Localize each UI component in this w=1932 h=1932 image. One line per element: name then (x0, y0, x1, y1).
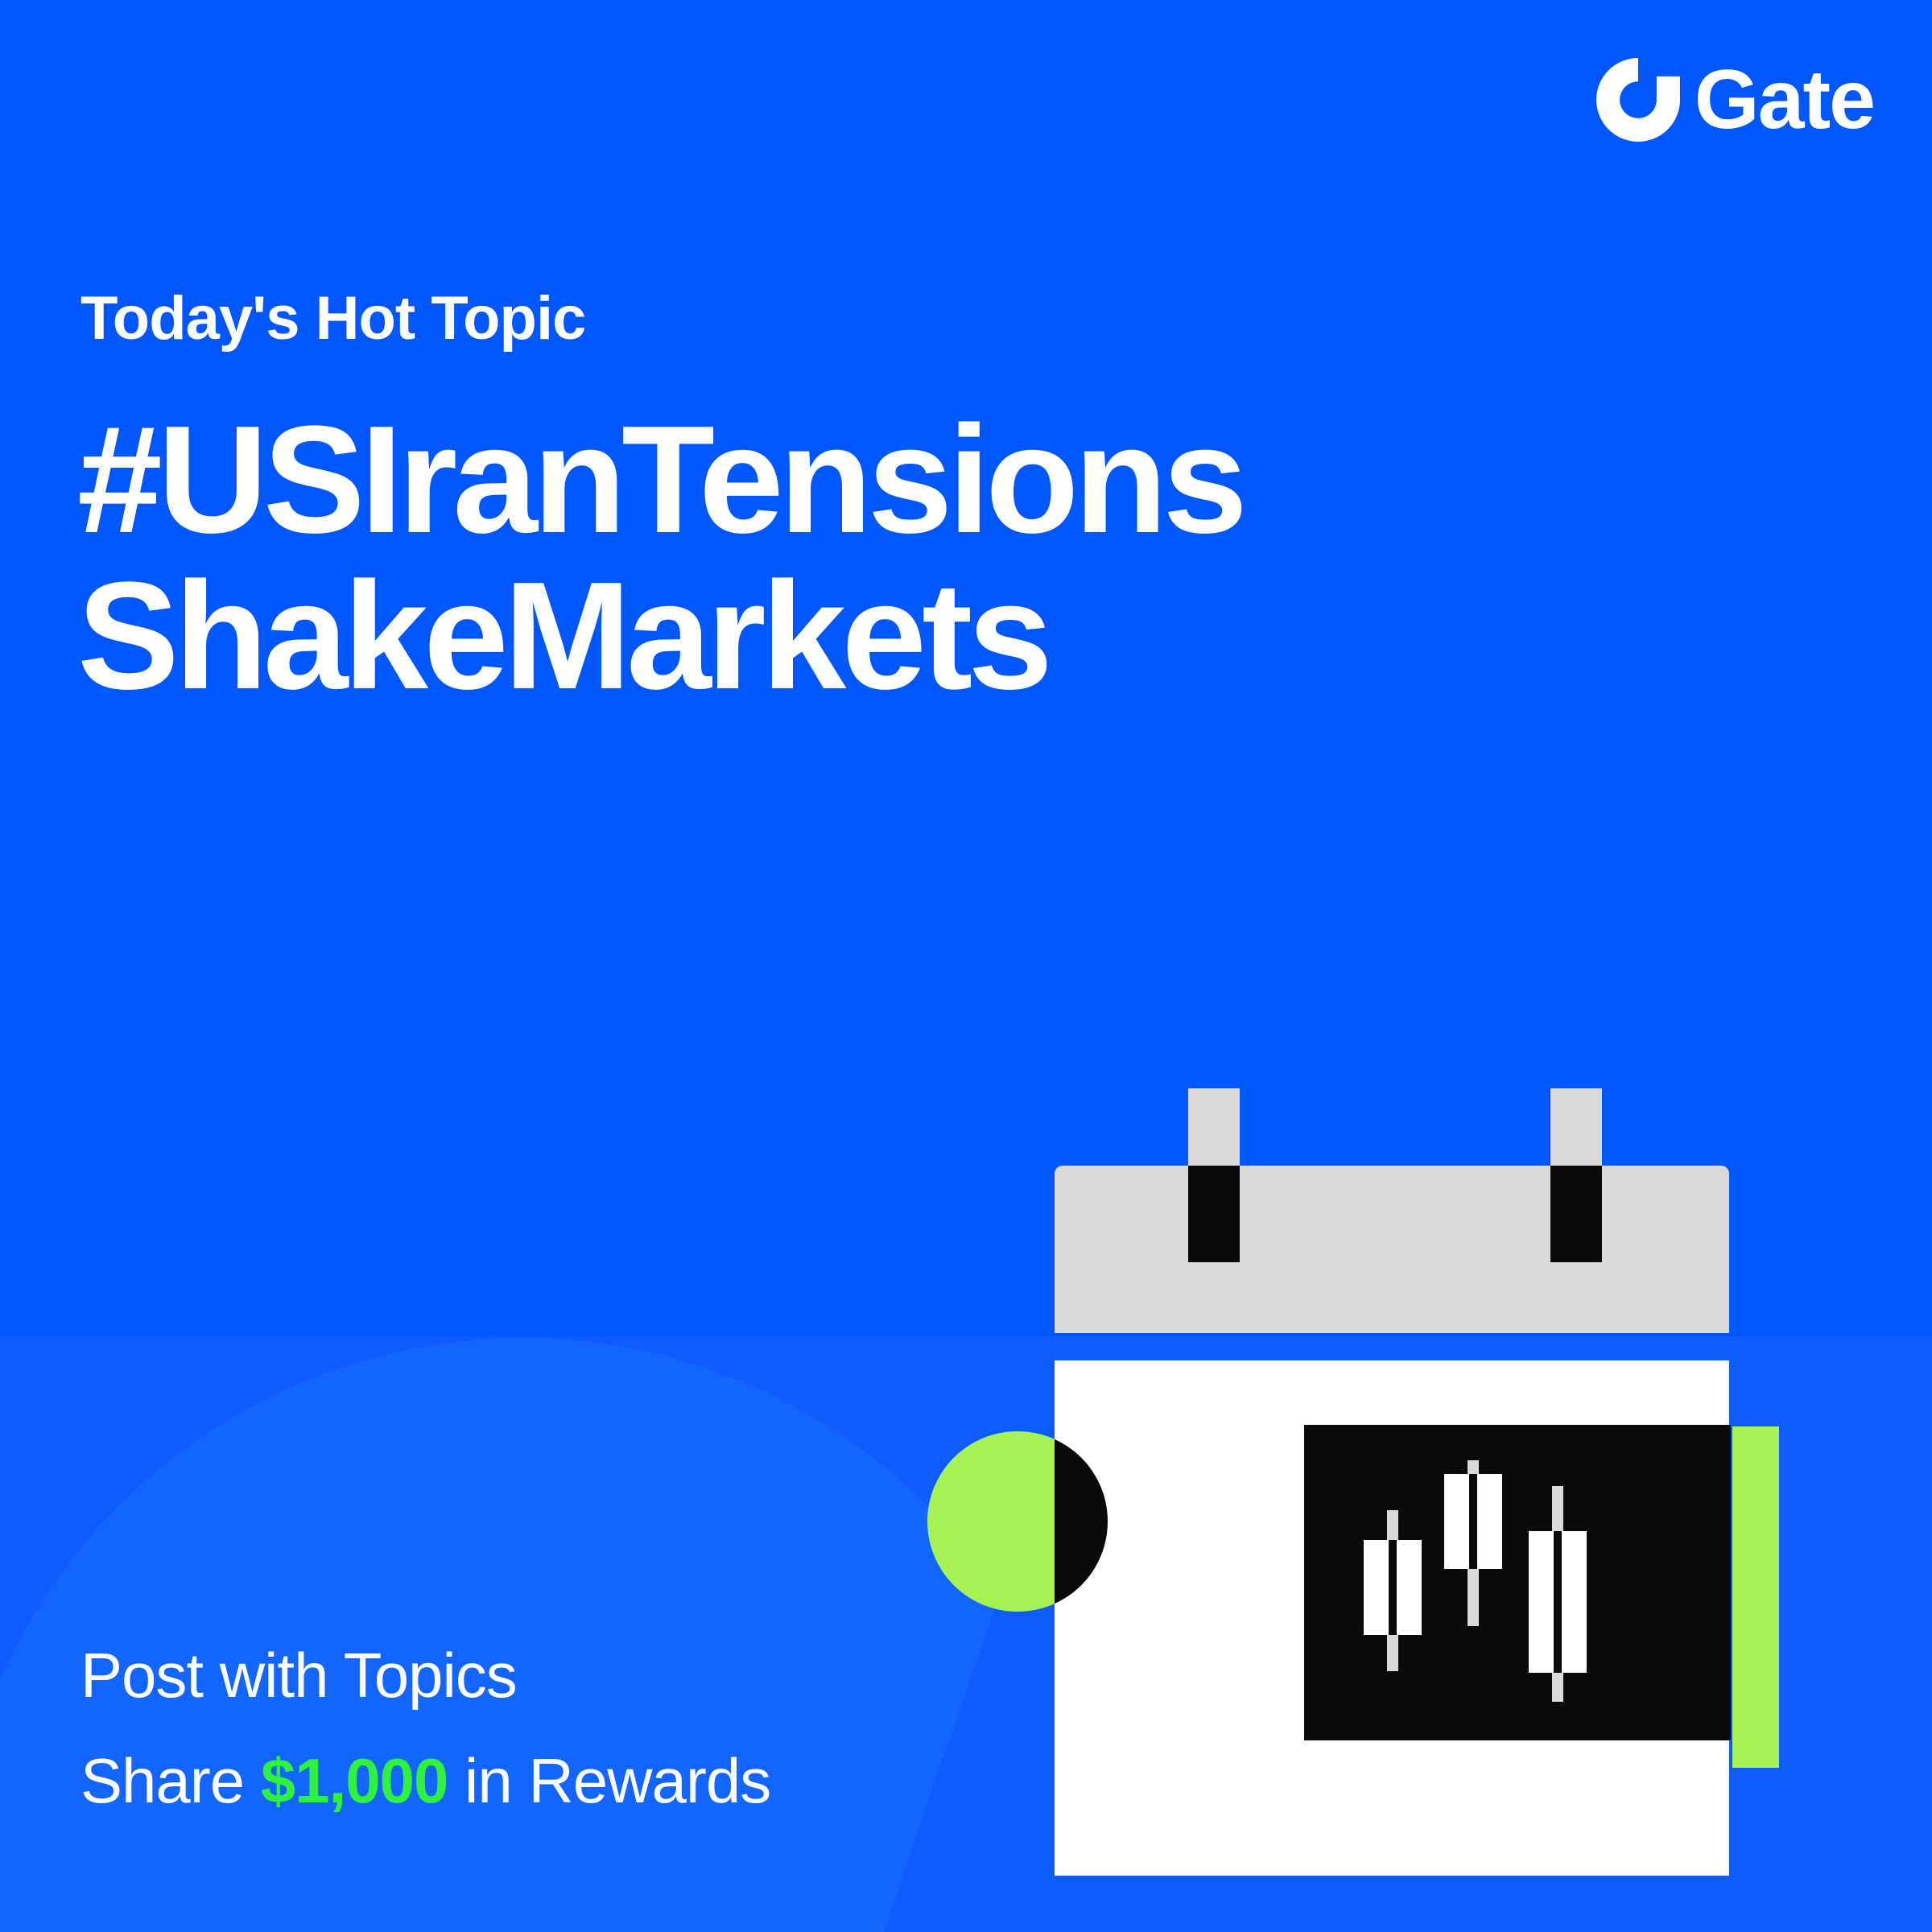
binder-ring-left-shadow (1188, 1166, 1240, 1262)
candlestick-3-split (1554, 1531, 1562, 1673)
footer-share-suffix: in Rewards (448, 1745, 770, 1816)
calendar-header (1055, 1166, 1729, 1333)
binder-ring-right-shadow (1550, 1166, 1602, 1262)
candlestick-2-split (1469, 1474, 1477, 1569)
candlestick-1-split (1389, 1540, 1397, 1635)
green-accent-bar (1732, 1426, 1779, 1768)
candlestick-chart-panel (1304, 1425, 1731, 1740)
footer-share-prefix: Share (80, 1745, 261, 1816)
footer-copy: Post with Topics Share $1,000 in Rewards (80, 1623, 770, 1834)
promo-graphic: Gate Today's Hot Topic #USIranTensions S… (0, 0, 1932, 1932)
footer-line-2: Share $1,000 in Rewards (80, 1728, 770, 1834)
footer-line-1: Post with Topics (80, 1623, 770, 1728)
reward-amount: $1,000 (261, 1745, 448, 1816)
